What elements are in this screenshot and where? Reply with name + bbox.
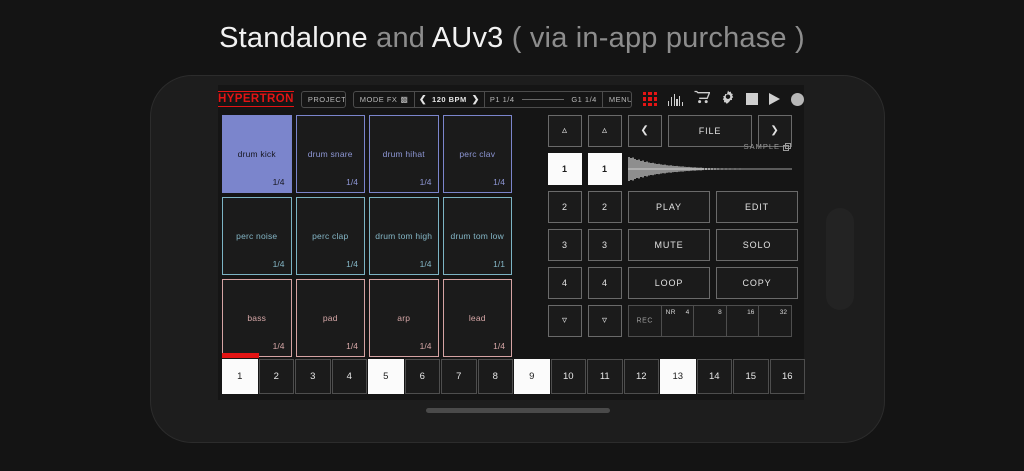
play-icon[interactable] — [769, 93, 780, 105]
pad-division: 1/1 — [493, 259, 505, 269]
mode-fx-label: MODE FX — [360, 95, 398, 104]
transport-group: MODE FX ▩ ❮ 120 BPM ❯ P1 1/4 G1 1/4 MENU… — [353, 91, 632, 108]
step-8[interactable]: 8 — [478, 359, 514, 394]
pad-lead[interactable]: lead 1/4 — [443, 279, 513, 357]
rec-label: REC — [629, 318, 661, 325]
step-1[interactable]: 1 — [222, 359, 258, 394]
pad-pad[interactable]: pad 1/4 — [296, 279, 366, 357]
edit-button[interactable]: EDIT — [716, 191, 798, 223]
bank-left-down-button[interactable]: ▿ — [548, 305, 582, 337]
toolbar-icon-row — [643, 90, 804, 109]
pad-division: 1/4 — [346, 177, 358, 187]
sample-tag: SAMPLE — [744, 142, 791, 151]
pad-division: 1/4 — [493, 177, 505, 187]
pad-drum-snare[interactable]: drum snare 1/4 — [296, 115, 366, 193]
promo-page: Standalone and AUv3 ( via in-app purchas… — [0, 0, 1024, 471]
grid-icon: ▩ — [400, 95, 408, 104]
mute-button[interactable]: MUTE — [628, 229, 710, 261]
pad-division: 1/4 — [493, 341, 505, 351]
pattern-start-label: P1 1/4 — [490, 95, 515, 104]
rec-button[interactable]: REC — [629, 306, 662, 336]
step-16[interactable]: 16 — [770, 359, 806, 394]
menu-button[interactable]: MENU ☰ — [603, 92, 632, 107]
bank-left-slot-3[interactable]: 3 — [548, 229, 582, 261]
control-row-2: 1 1 SAMPLE — [548, 153, 804, 185]
step-sequencer: 1 2 3 4 5 6 7 8 9 10 11 12 13 14 15 16 — [222, 353, 805, 394]
pad-division: 1/4 — [273, 259, 285, 269]
control-row-6: ▿ ▿ REC NR 4 8 16 — [548, 305, 804, 337]
bpm-control[interactable]: ❮ 120 BPM ❯ — [415, 92, 485, 107]
copy-button[interactable]: COPY — [716, 267, 798, 299]
pad-label: bass — [223, 313, 291, 323]
pad-label: drum tom high — [370, 231, 438, 241]
pattern-range[interactable]: P1 1/4 G1 1/4 — [485, 92, 603, 107]
pad-row: drum kick 1/4 drum snare 1/4 drum hihat … — [222, 115, 512, 193]
rec-length-label: 32 — [780, 309, 787, 316]
pad-bass[interactable]: bass 1/4 — [222, 279, 292, 357]
pad-drum-tom-high[interactable]: drum tom high 1/4 — [369, 197, 439, 275]
rec-length-strip: REC NR 4 8 16 32 — [628, 305, 792, 337]
pad-drum-tom-low[interactable]: drum tom low 1/1 — [443, 197, 513, 275]
grid-pads-icon[interactable] — [643, 92, 657, 106]
sample-waveform-display[interactable]: SAMPLE — [628, 153, 792, 185]
pad-perc-clap[interactable]: perc clap 1/4 — [296, 197, 366, 275]
control-row-3: 2 2 PLAY EDIT — [548, 191, 804, 223]
pattern-link-line — [522, 99, 565, 100]
title-and: and — [368, 22, 432, 54]
title-purchase-note: ( via in-app purchase ) — [503, 22, 804, 54]
waveform-svg — [628, 156, 792, 182]
bank-right-slot-4[interactable]: 4 — [588, 267, 622, 299]
pad-label: drum kick — [223, 149, 291, 159]
solo-button[interactable]: SOLO — [716, 229, 798, 261]
sample-label: SAMPLE — [744, 142, 780, 151]
nr-label: NR — [666, 309, 676, 316]
chevron-right-icon[interactable]: ❯ — [472, 95, 480, 104]
gear-icon[interactable] — [721, 90, 735, 109]
mixer-bars-icon[interactable] — [668, 93, 683, 106]
pad-division: 1/4 — [273, 177, 285, 187]
rec-length-32-button[interactable]: 32 — [759, 306, 791, 336]
pad-perc-noise[interactable]: perc noise 1/4 — [222, 197, 292, 275]
mode-fx-button[interactable]: MODE FX ▩ — [354, 92, 415, 107]
pad-label: pad — [297, 313, 365, 323]
step-5[interactable]: 5 — [368, 359, 404, 394]
step-11[interactable]: 11 — [587, 359, 623, 394]
pad-division: 1/4 — [273, 341, 285, 351]
chevron-left-icon[interactable]: ❮ — [419, 95, 427, 104]
step-3[interactable]: 3 — [295, 359, 331, 394]
step-9[interactable]: 9 — [514, 359, 550, 394]
bpm-value: 120 BPM — [432, 95, 467, 104]
pad-label: lead — [444, 313, 512, 323]
pad-label: arp — [370, 313, 438, 323]
app-logo: HYPERTRON — [218, 91, 294, 107]
step-12[interactable]: 12 — [624, 359, 660, 394]
chevron-left-icon: ❮ — [640, 126, 649, 136]
chevron-down-icon: ▿ — [602, 316, 608, 326]
pad-label: drum tom low — [444, 231, 512, 241]
bank-left-slot-2[interactable]: 2 — [548, 191, 582, 223]
step-14[interactable]: 14 — [697, 359, 733, 394]
pad-division: 1/4 — [420, 341, 432, 351]
rec-length-4-button[interactable]: NR 4 — [662, 306, 695, 336]
pad-division: 1/4 — [420, 259, 432, 269]
pad-label: perc noise — [223, 231, 291, 241]
project-button[interactable]: PROJECT — [302, 92, 346, 107]
chevron-up-icon: ▵ — [602, 126, 608, 136]
bank-right-slot-3[interactable]: 3 — [588, 229, 622, 261]
rec-length-8-button[interactable]: 8 — [694, 306, 727, 336]
bank-right-slot-1[interactable]: 1 — [588, 153, 622, 185]
home-indicator[interactable] — [426, 408, 610, 413]
pad-division: 1/4 — [346, 259, 358, 269]
loop-button[interactable]: LOOP — [628, 267, 710, 299]
bank-right-up-button[interactable]: ▵ — [588, 115, 622, 147]
copy-icon[interactable] — [783, 143, 791, 151]
step-2[interactable]: 2 — [259, 359, 295, 394]
step-15[interactable]: 15 — [733, 359, 769, 394]
rec-length-16-button[interactable]: 16 — [727, 306, 760, 336]
step-4[interactable]: 4 — [332, 359, 368, 394]
pad-label: perc clap — [297, 231, 365, 241]
rec-length-label: 16 — [747, 309, 754, 316]
pad-label: drum hihat — [370, 149, 438, 159]
device-side-button[interactable] — [826, 208, 854, 310]
bank-right-slot-2[interactable]: 2 — [588, 191, 622, 223]
pad-label: perc clav — [444, 149, 512, 159]
bank-left-slot-4[interactable]: 4 — [548, 267, 582, 299]
play-button[interactable]: PLAY — [628, 191, 710, 223]
control-row-5: 4 4 LOOP COPY — [548, 267, 804, 299]
step-7[interactable]: 7 — [441, 359, 477, 394]
bank-right-down-button[interactable]: ▿ — [588, 305, 622, 337]
step-row: 1 2 3 4 5 6 7 8 9 10 11 12 13 14 15 16 — [222, 359, 805, 394]
chevron-down-icon: ▿ — [562, 316, 568, 326]
menu-label: MENU — [609, 95, 632, 104]
control-row-4: 3 3 MUTE SOLO — [548, 229, 804, 261]
pattern-end-label: G1 1/4 — [571, 95, 597, 104]
pad-drum-kick[interactable]: drum kick 1/4 — [222, 115, 292, 193]
chevron-right-icon: ❯ — [770, 126, 779, 136]
rec-length-label: 8 — [718, 309, 722, 316]
control-panel: ▵ ▵ ❮ FILE ❯ 1 1 SAMPLE — [548, 115, 804, 343]
pad-row: perc noise 1/4 perc clap 1/4 drum tom hi… — [222, 197, 512, 275]
app-screen: HYPERTRON PROJECT MODE FX ▩ ❮ 120 BPM ❯ … — [218, 85, 804, 400]
chevron-up-icon: ▵ — [562, 126, 568, 136]
file-prev-button[interactable]: ❮ — [628, 115, 662, 147]
file-button[interactable]: FILE — [668, 115, 752, 147]
pad-row: bass 1/4 pad 1/4 arp 1/4 lead 1/4 — [222, 279, 512, 357]
pad-arp[interactable]: arp 1/4 — [369, 279, 439, 357]
step-6[interactable]: 6 — [405, 359, 441, 394]
project-group: PROJECT — [301, 91, 346, 108]
step-13[interactable]: 13 — [660, 359, 696, 394]
pad-division: 1/4 — [420, 177, 432, 187]
rec-length-label: 4 — [686, 309, 690, 316]
shopping-cart-icon[interactable] — [694, 90, 710, 109]
playhead-marker — [222, 353, 259, 358]
page-title: Standalone and AUv3 ( via in-app purchas… — [0, 22, 1024, 55]
pad-grid: drum kick 1/4 drum snare 1/4 drum hihat … — [222, 115, 512, 361]
pad-division: 1/4 — [346, 341, 358, 351]
record-icon[interactable] — [791, 93, 804, 106]
bank-left-up-button[interactable]: ▵ — [548, 115, 582, 147]
pad-label: drum snare — [297, 149, 365, 159]
pad-drum-hihat[interactable]: drum hihat 1/4 — [369, 115, 439, 193]
title-standalone: Standalone — [219, 22, 368, 54]
stop-icon[interactable] — [746, 93, 758, 105]
title-auv3: AUv3 — [432, 22, 504, 54]
pad-perc-clav[interactable]: perc clav 1/4 — [443, 115, 513, 193]
step-10[interactable]: 10 — [551, 359, 587, 394]
top-toolbar: HYPERTRON PROJECT MODE FX ▩ ❮ 120 BPM ❯ … — [218, 85, 804, 113]
bank-left-slot-1[interactable]: 1 — [548, 153, 582, 185]
